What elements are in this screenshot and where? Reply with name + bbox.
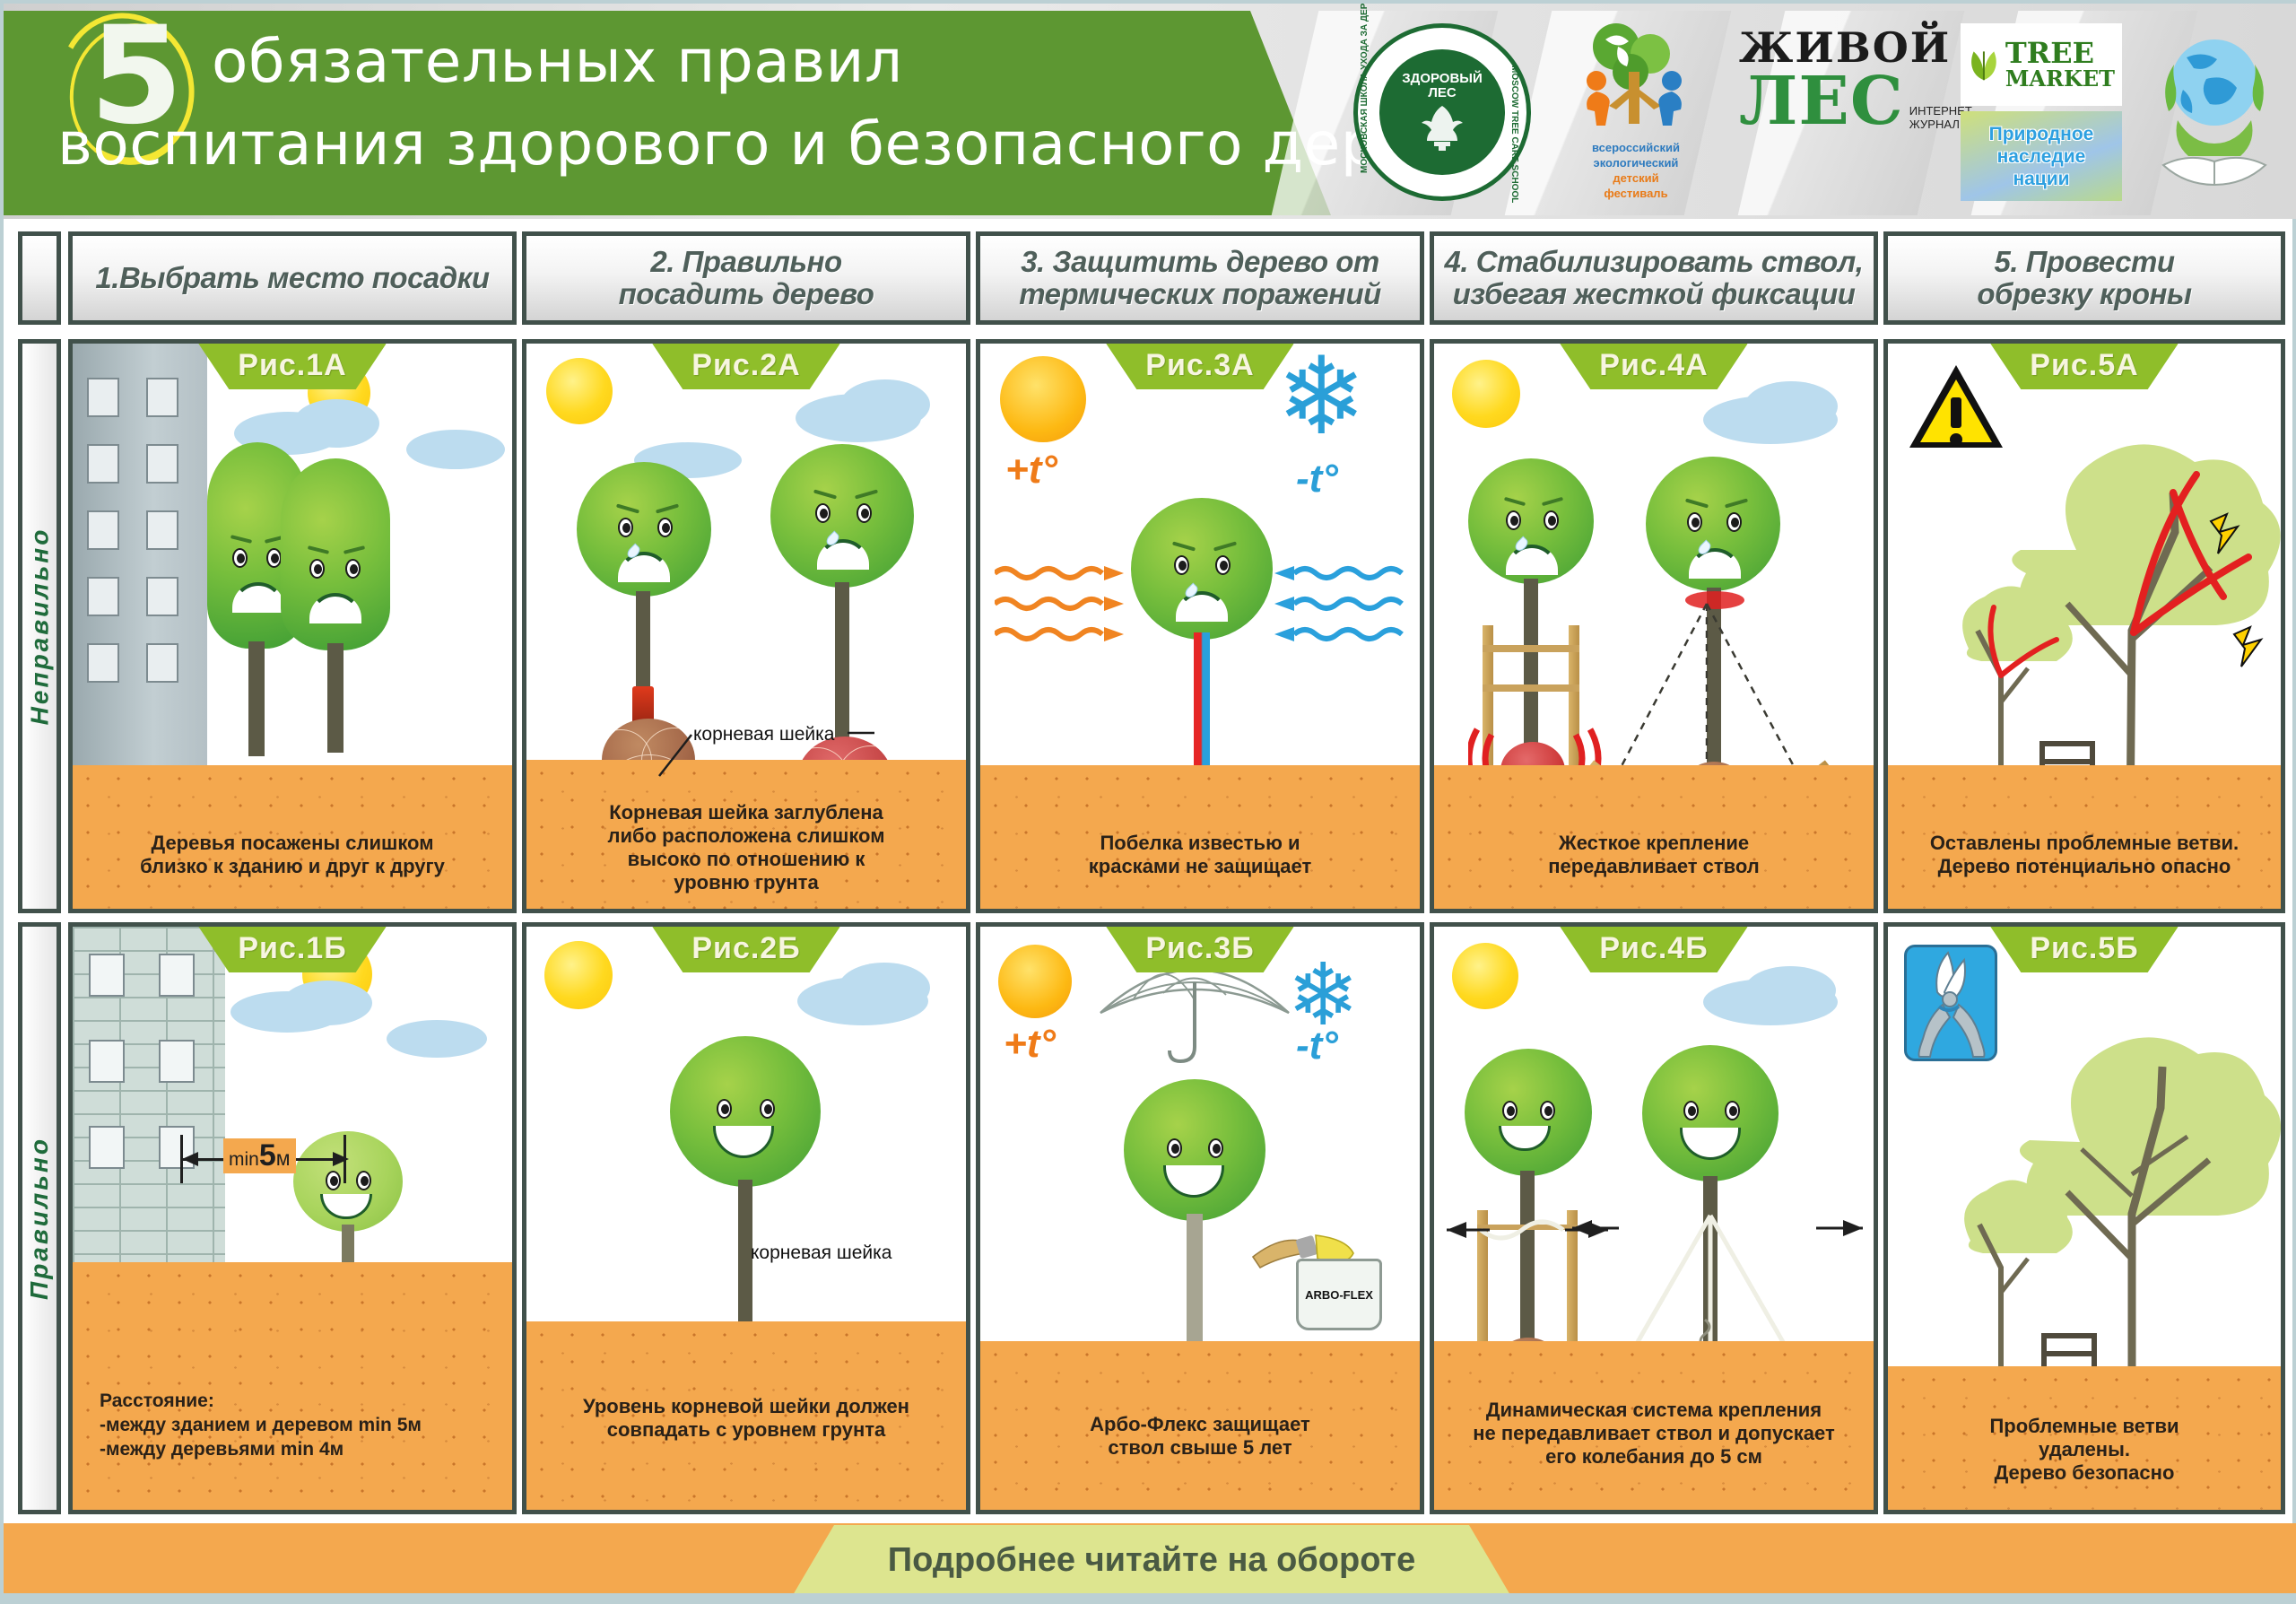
logo-eco-festival: всероссийский экологический детский фест… <box>1560 23 1712 203</box>
caption-1a: Деревья посажены слишком близко к зданию… <box>73 832 512 878</box>
column-header-3: 3. Защитить дерево от термических пораже… <box>976 231 1424 325</box>
column-header-5: 5. Провести обрезку кроны <box>1883 231 2285 325</box>
temp-minus-label: -t° <box>1296 1024 1338 1068</box>
building-window <box>87 643 119 683</box>
soil-ground <box>73 1262 512 1510</box>
column-header-spacer <box>18 231 61 325</box>
caption-4b: Динамическая система крепления не переда… <box>1434 1399 1874 1469</box>
sun-icon <box>546 358 613 424</box>
caption-2b: Уровень корневой шейки должен совпадать … <box>526 1395 966 1442</box>
pruned-tree-illustration <box>1940 989 2285 1420</box>
cloud-icon <box>1744 381 1838 432</box>
panel-3a: Рис.3А ❄ +t° -t° <box>976 339 1424 913</box>
logo-prirodnoe-nasledie: Природное наследие нации <box>1961 111 2122 201</box>
fig-label-3b: Рис.3Б <box>1106 927 1293 972</box>
footer-text: Подробнее читайте на обороте <box>888 1541 1415 1580</box>
building-window <box>146 643 178 683</box>
cross-tie <box>1483 684 1579 692</box>
building-window <box>87 510 119 550</box>
tree-market-leaf-icon <box>1968 39 2000 90</box>
column-header-row: 1.Выбрать место посадки 2. Правильно пос… <box>4 228 2296 332</box>
column-header-4: 4. Стабилизировать ствол, избегая жестко… <box>1430 231 1878 325</box>
panel-1a: Рис.1А <box>68 339 517 913</box>
seal-ring-text: МОСКОВСКАЯ ШКОЛА УХОДА ЗА ДЕРЕВЬЯМИ MOSC… <box>1358 28 1526 196</box>
column-header-1: 1.Выбрать место посадки <box>68 231 517 325</box>
sun-icon <box>544 941 613 1009</box>
paint-bucket-icon: ARBO-FLEX <box>1296 1259 1382 1330</box>
building-window <box>87 444 119 484</box>
cloud-icon <box>839 963 930 1013</box>
poster-header: 5 обязательных правил воспитания здорово… <box>4 4 2296 219</box>
fig-label-1a: Рис.1А <box>198 344 386 389</box>
fig-label-1b: Рис.1Б <box>198 927 386 972</box>
footer-plate: Подробнее читайте на обороте <box>793 1525 1510 1595</box>
caption-5b: Проблемные ветви удалены. Дерево безопас… <box>1888 1415 2281 1485</box>
building-window <box>146 444 178 484</box>
building-window <box>89 1040 125 1083</box>
row-label-wrong: Неправильно <box>18 339 61 913</box>
heat-waves-icon <box>995 564 1129 663</box>
cloud-icon <box>406 430 505 469</box>
panel-1b: Рис.1Б min 5 м <box>68 922 517 1514</box>
temp-plus-label: +t° <box>1004 1022 1056 1067</box>
dimension-label: min 5 м <box>223 1138 296 1173</box>
fig-label-4b: Рис.4Б <box>1560 927 1747 972</box>
logo-moscow-tree-care-school: МОСКОВСКАЯ ШКОЛА УХОДА ЗА ДЕРЕВЬЯМИ MOSC… <box>1353 23 1531 201</box>
bucket-label: ARBO-FLEX <box>1305 1288 1373 1302</box>
sun-icon <box>1452 360 1520 428</box>
column-header-1-label: 1.Выбрать место посадки <box>95 262 489 294</box>
building-window <box>159 954 195 997</box>
prirodnoe-text: Природное наследие нации <box>1989 123 2094 190</box>
logo-tree-market: TREE MARKET <box>1961 23 2122 106</box>
les-word: ЛЕС <box>1739 72 1904 131</box>
panel-4a: Рис.4А <box>1430 339 1878 913</box>
building-window <box>159 1040 195 1083</box>
building-window <box>87 378 119 417</box>
logo-globe-hands-book <box>2147 23 2282 203</box>
cross-tie <box>1483 645 1579 652</box>
cloud-icon <box>293 399 379 448</box>
panel-5b: Рис.5Б Проблемные ветви удалены <box>1883 922 2285 1514</box>
cloud-icon <box>283 981 372 1025</box>
sun-hot-icon <box>998 945 1072 1018</box>
temp-minus-label: -t° <box>1296 457 1338 501</box>
column-header-4-label: 4. Стабилизировать ствол, избегая жестко… <box>1445 246 1864 310</box>
building-window <box>89 954 125 997</box>
column-header-5-label: 5. Провести обрезку кроны <box>1977 246 2191 310</box>
column-header-3-label: 3. Защитить дерево от термических пораже… <box>1019 246 1381 310</box>
column-header-2-label: 2. Правильно посадить дерево <box>619 246 874 310</box>
tree-market-word1: TREE <box>2005 39 2115 67</box>
bottom-edge <box>4 1593 2296 1600</box>
fig-label-3a: Рис.3А <box>1106 344 1293 389</box>
headline-line-2: воспитания здорового и безопасного дерев… <box>57 109 1488 179</box>
row-label-right-text: Правильно <box>25 1137 54 1300</box>
poster-root: 5 обязательных правил воспитания здорово… <box>0 0 2296 1604</box>
fig-label-5b: Рис.5Б <box>1990 927 2178 972</box>
cloud-icon <box>1744 966 1836 1015</box>
sun-icon <box>1452 943 1518 1009</box>
building-window <box>89 1126 125 1169</box>
headline-line-1: обязательных правил <box>212 27 903 96</box>
logo-zhivoy-les: ЖИВОЙ ЛЕС ИНТЕРНЕТ- ЖУРНАЛ <box>1739 23 1945 203</box>
row-label-wrong-text: Неправильно <box>25 527 54 726</box>
annotation-root-collar-2a: корневая шейка <box>693 724 834 745</box>
building-window <box>146 577 178 616</box>
fig-label-2a: Рис.2А <box>652 344 839 389</box>
snowflake-icon: ❄ <box>1276 347 1367 446</box>
festival-text: всероссийский экологический детский фест… <box>1592 140 1680 201</box>
panel-2a: Рис.2А <box>522 339 970 913</box>
panel-3b: Рис.3Б ❄ +t° -t° <box>976 922 1424 1514</box>
building-window <box>146 510 178 550</box>
tree-market-word2: MARKET <box>2005 67 2115 91</box>
caption-3a: Побелка известью и красками не защищает <box>980 832 1420 878</box>
cold-waves-icon <box>1269 564 1404 663</box>
fig-label-4a: Рис.4А <box>1560 344 1747 389</box>
building-window <box>146 378 178 417</box>
sway-arrows-icon <box>1567 1216 1872 1242</box>
annotation-root-collar-2b: корневая шейка <box>751 1242 891 1264</box>
fig-label-2b: Рис.2Б <box>652 927 839 972</box>
sun-hot-icon <box>1000 356 1086 442</box>
caption-3b: Арбо-Флекс защищает ствол свыше 5 лет <box>980 1413 1420 1460</box>
globe-hands-book-icon <box>2147 23 2282 203</box>
cloud-icon <box>840 379 930 430</box>
caption-4a: Жесткое крепление передавливает ствол <box>1434 832 1874 878</box>
column-header-2: 2. Правильно посадить дерево <box>522 231 970 325</box>
temp-plus-label: +t° <box>1005 448 1057 493</box>
building-window <box>87 577 119 616</box>
panel-4b: Рис.4Б <box>1430 922 1878 1514</box>
caption-5a: Оставлены проблемные ветви. Дерево потен… <box>1888 832 2281 878</box>
festival-tree-people-icon <box>1564 23 1708 136</box>
caption-1b: Расстояние: -между зданием и деревом min… <box>73 1389 512 1461</box>
panel-2b: Рис.2Б корневая шейка Уровень корневой ш… <box>522 922 970 1514</box>
row-label-right: Правильно <box>18 922 61 1514</box>
fig-label-5a: Рис.5А <box>1990 344 2178 389</box>
caption-2a: Корневая шейка заглублена либо расположе… <box>526 801 966 894</box>
cloud-icon <box>387 1020 487 1058</box>
panel-5a: Рис.5А Оставлен <box>1883 339 2285 913</box>
